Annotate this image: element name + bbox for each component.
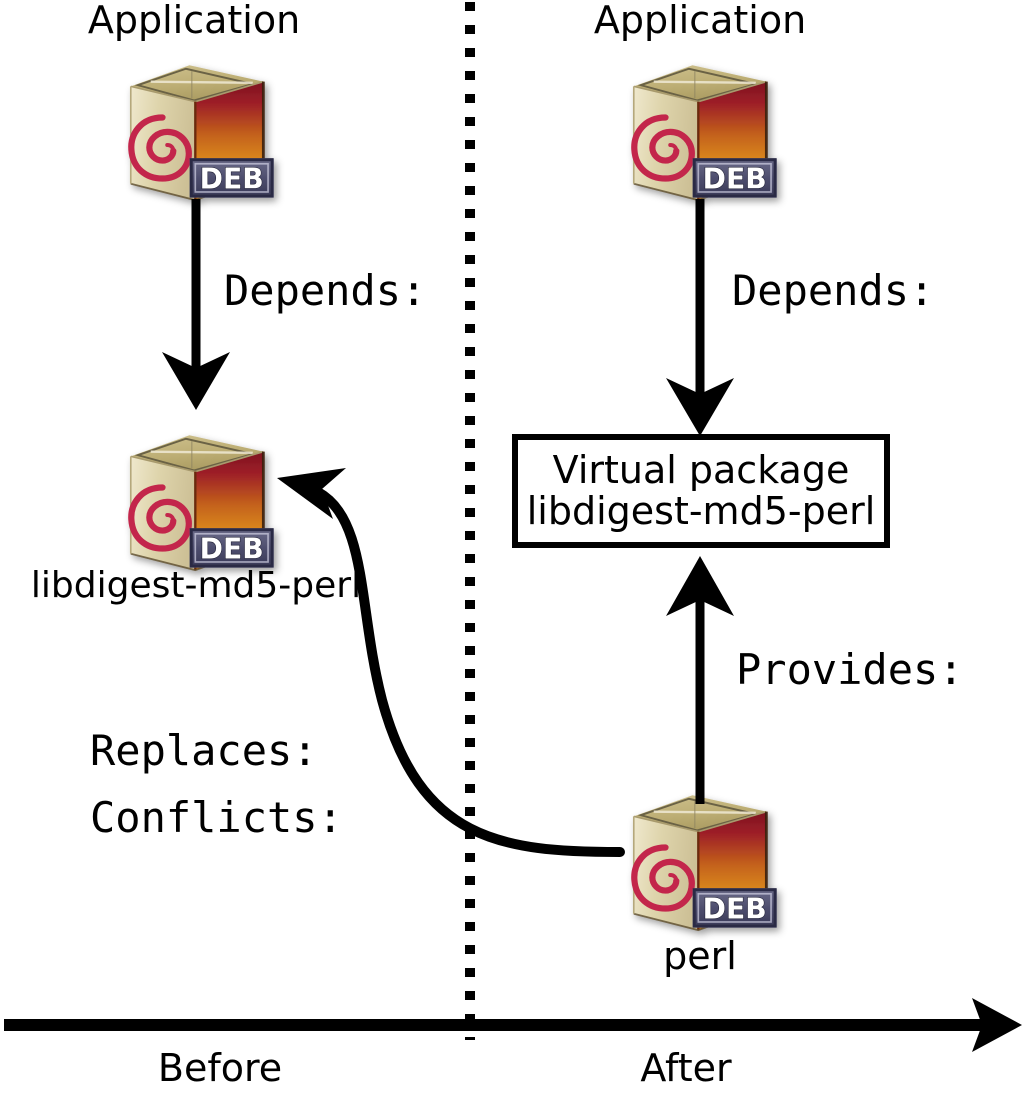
- virtual-package-line1: Virtual package: [553, 450, 850, 491]
- depends-arrow-after: [666, 199, 734, 436]
- perl-label: perl: [663, 934, 737, 978]
- libdigest-md5-perl-label: libdigest-md5-perl: [31, 565, 361, 606]
- app-package-icon-before: [131, 65, 274, 200]
- virtual-package-box: Virtual package libdigest-md5-perl: [512, 434, 890, 548]
- app-label-after: Application: [594, 0, 806, 42]
- provides-label: Provides:: [736, 645, 964, 694]
- virtual-package-line2: libdigest-md5-perl: [527, 491, 876, 532]
- depends-arrow-before: [162, 199, 230, 410]
- depends-label-before: Depends:: [224, 266, 426, 315]
- timeline-after-label: After: [640, 1046, 731, 1090]
- replaces-label: Replaces:: [90, 726, 318, 775]
- libdigest-md5-perl-package-icon: [131, 435, 274, 570]
- diagram-canvas: DEB: [0, 0, 1024, 1094]
- conflicts-label: Conflicts:: [90, 793, 343, 842]
- provides-arrow: [666, 556, 734, 804]
- depends-label-after: Depends:: [732, 266, 934, 315]
- perl-package-icon: [634, 795, 777, 930]
- app-package-icon-after: [634, 65, 777, 200]
- app-label-before: Application: [88, 0, 300, 42]
- timeline-axis: [4, 998, 1022, 1052]
- timeline-before-label: Before: [158, 1046, 282, 1090]
